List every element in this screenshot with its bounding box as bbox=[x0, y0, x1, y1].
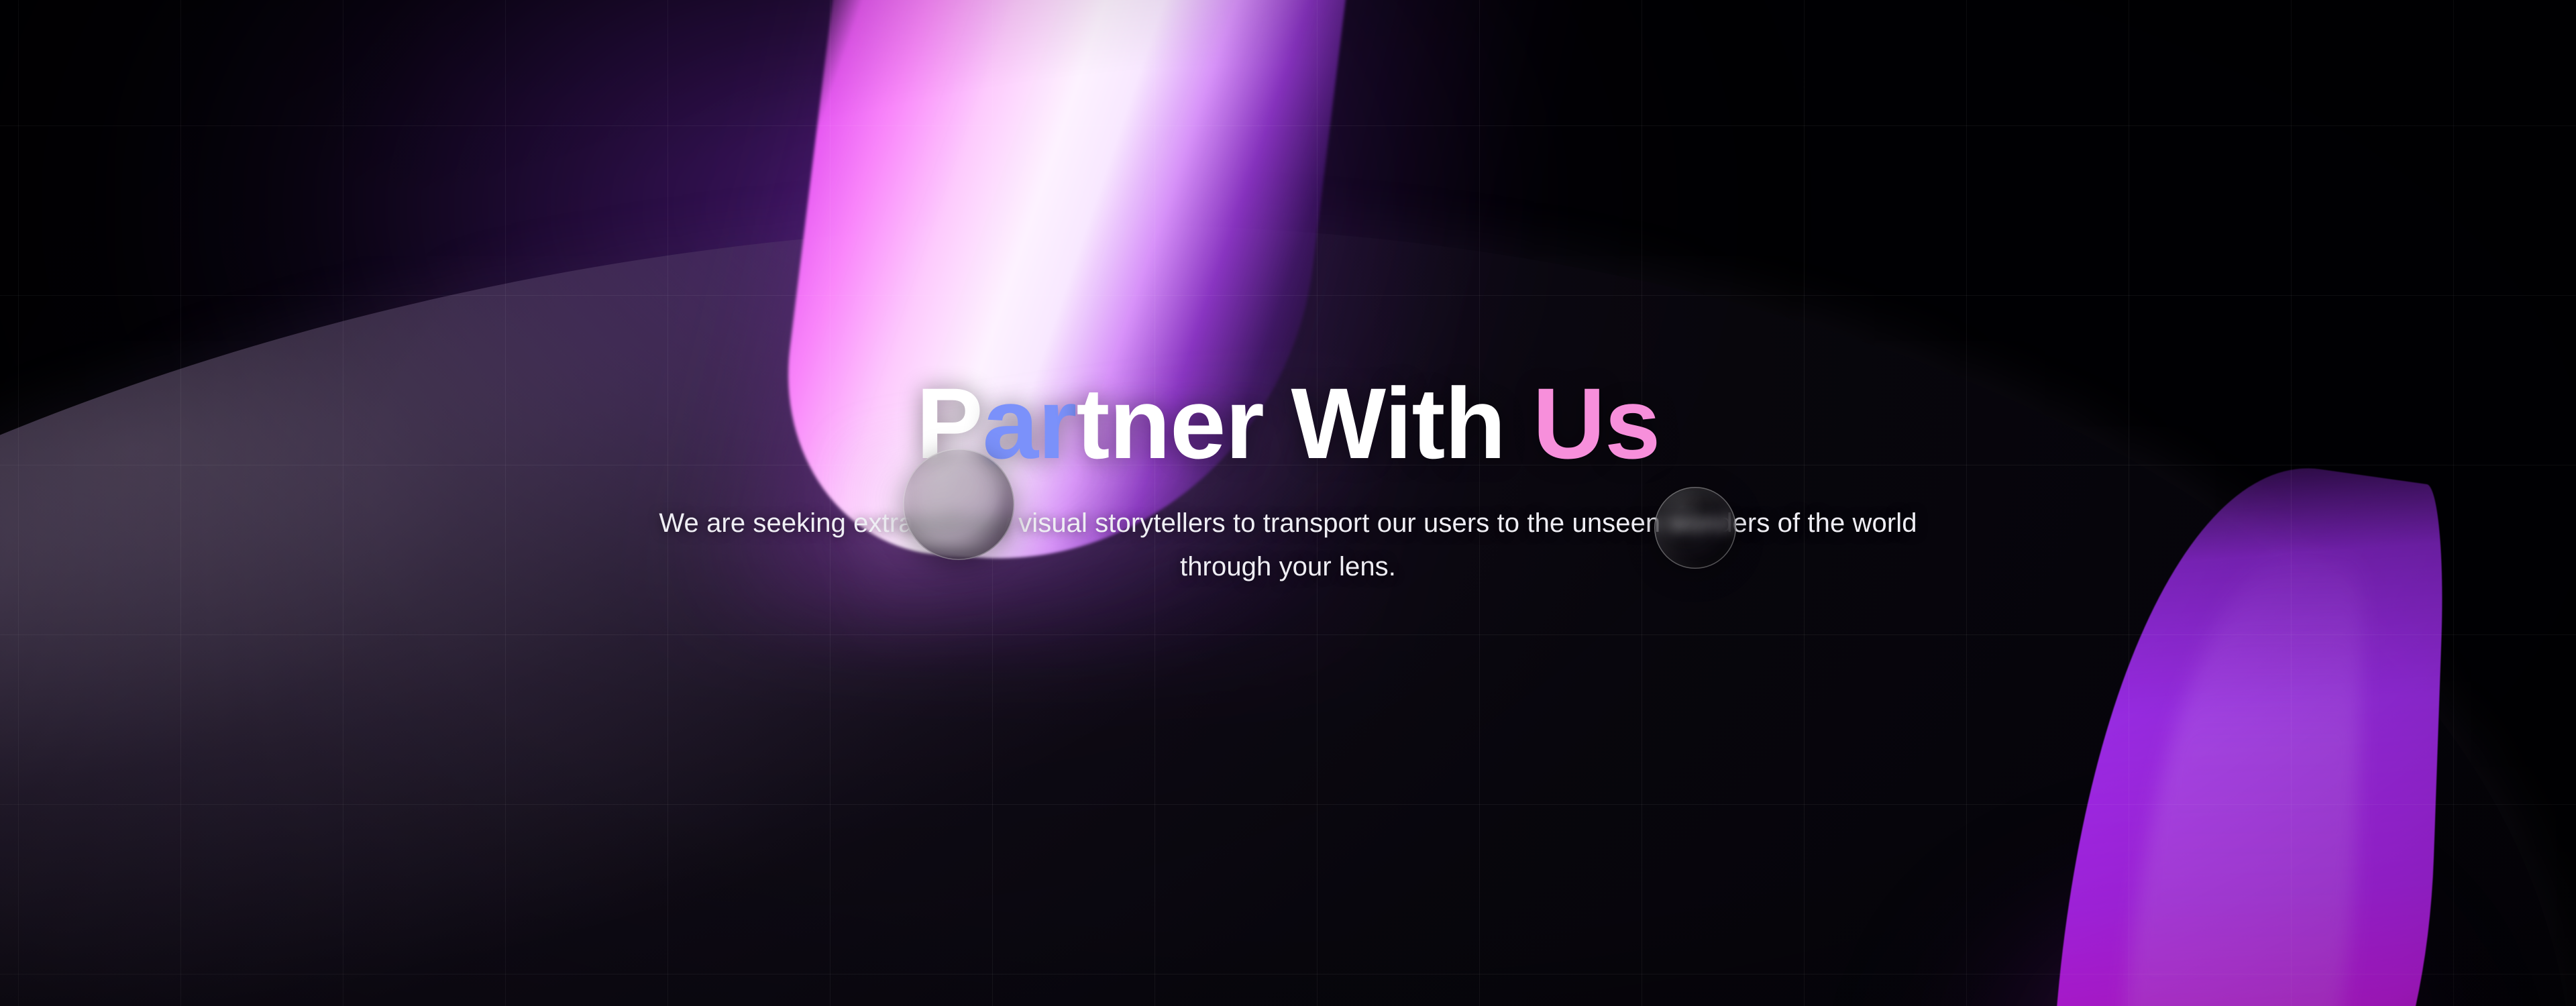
headline-segment-with: With bbox=[1291, 367, 1532, 480]
headline-segment-us: Us bbox=[1533, 367, 1660, 480]
headline-segment-ar: ar bbox=[983, 367, 1077, 480]
hero-section: Partner With Us We are seeking extraordi… bbox=[0, 0, 2576, 1006]
hero-subtitle: We are seeking extraordinary visual stor… bbox=[644, 502, 1932, 589]
hero-content: Partner With Us We are seeking extraordi… bbox=[0, 0, 2576, 1006]
page-title: Partner With Us bbox=[916, 373, 1660, 473]
headline-segment-p: P bbox=[916, 367, 983, 480]
headline-segment-tner: tner bbox=[1076, 367, 1291, 480]
